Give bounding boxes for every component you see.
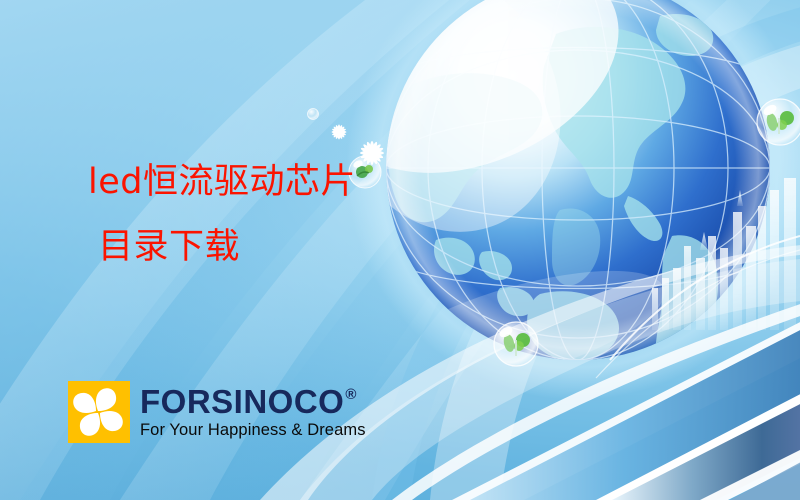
registered-trademark-icon: ® xyxy=(345,387,357,402)
logo-text-block: FORSINOCO® For Your Happiness & Dreams xyxy=(140,385,366,439)
logo-name-text: FORSINOCO xyxy=(140,385,344,418)
four-petal-pinwheel-icon xyxy=(68,381,130,443)
promo-banner: led恒流驱动芯片 目录下载 FORSINOCO® For Your Happi… xyxy=(0,0,800,500)
company-logo: FORSINOCO® For Your Happiness & Dreams xyxy=(68,381,366,443)
logo-name: FORSINOCO® xyxy=(140,385,366,418)
logo-tagline: For Your Happiness & Dreams xyxy=(140,422,366,439)
